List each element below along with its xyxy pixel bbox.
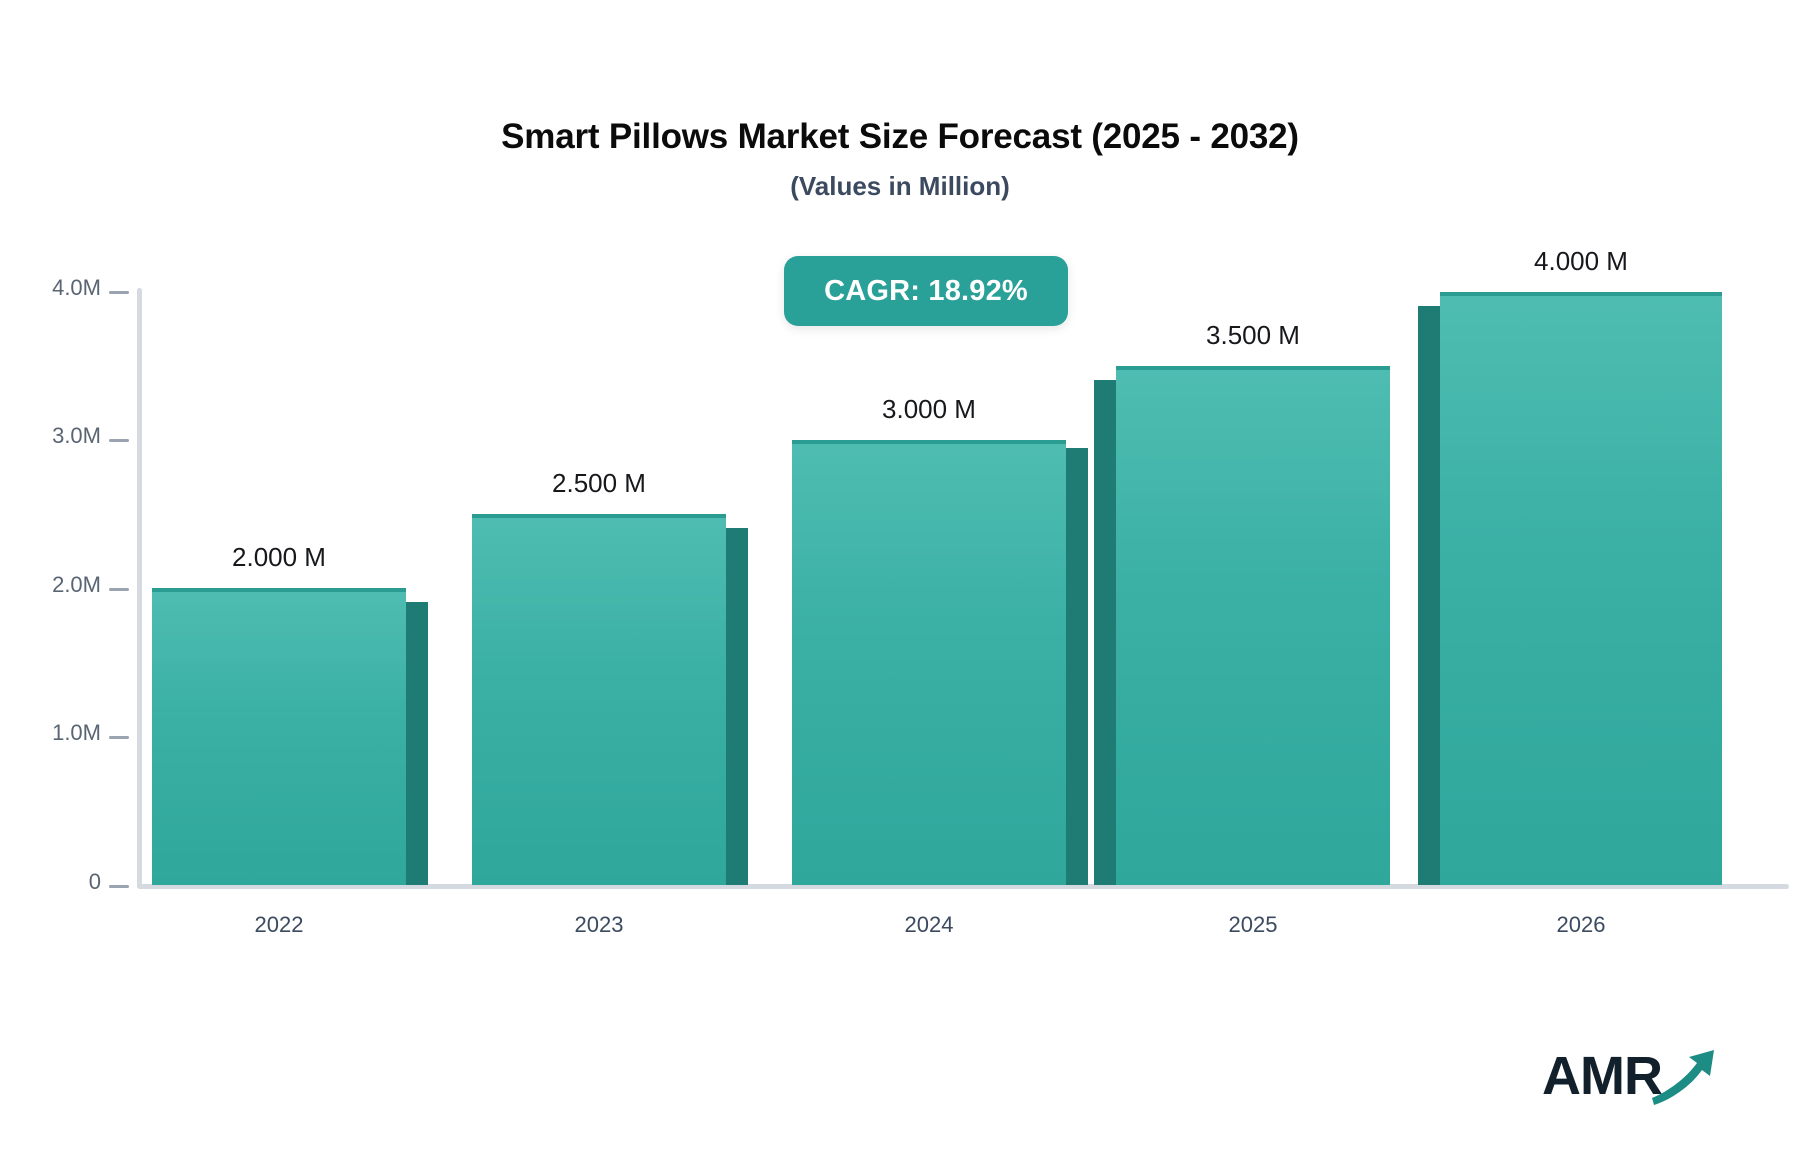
bar-side-3d bbox=[1418, 306, 1440, 885]
bar-value-label: 3.000 M bbox=[882, 394, 976, 425]
bar-face bbox=[1116, 366, 1390, 885]
bar-value-label: 3.500 M bbox=[1206, 320, 1300, 351]
bar-face bbox=[1440, 292, 1722, 885]
x-tick-label-2025: 2025 bbox=[1229, 912, 1278, 938]
svg-text:AMR: AMR bbox=[1542, 1046, 1662, 1106]
x-tick-label-2023: 2023 bbox=[575, 912, 624, 938]
bar-side-3d bbox=[1094, 380, 1116, 885]
bar-top-edge bbox=[472, 514, 726, 518]
bar-face bbox=[472, 514, 726, 885]
bar-value-label: 2.000 M bbox=[232, 542, 326, 573]
chart-canvas: Smart Pillows Market Size Forecast (2025… bbox=[0, 0, 1800, 1156]
bars-layer: 2.000 M 2.500 M 3.000 M bbox=[0, 0, 1800, 1156]
plot-area: 0 1.0M 2.0M 3.0M 4.0M 2.000 M bbox=[0, 0, 1800, 1156]
bar-side-3d bbox=[1066, 448, 1088, 885]
x-tick-label-2026: 2026 bbox=[1557, 912, 1606, 938]
bar-face bbox=[792, 440, 1066, 885]
bar-top-edge bbox=[792, 440, 1066, 444]
x-tick-label-2024: 2024 bbox=[905, 912, 954, 938]
bar-side-3d bbox=[406, 602, 428, 885]
amr-logo: AMR bbox=[1542, 1042, 1752, 1118]
bar-value-label: 4.000 M bbox=[1534, 246, 1628, 277]
bar-top-edge bbox=[1440, 292, 1722, 296]
bar-value-label: 2.500 M bbox=[552, 468, 646, 499]
x-tick-label-2022: 2022 bbox=[255, 912, 304, 938]
bar-side-3d bbox=[726, 528, 748, 885]
bar-face bbox=[152, 588, 406, 885]
bar-top-edge bbox=[1116, 366, 1390, 370]
bar-top-edge bbox=[152, 588, 406, 592]
